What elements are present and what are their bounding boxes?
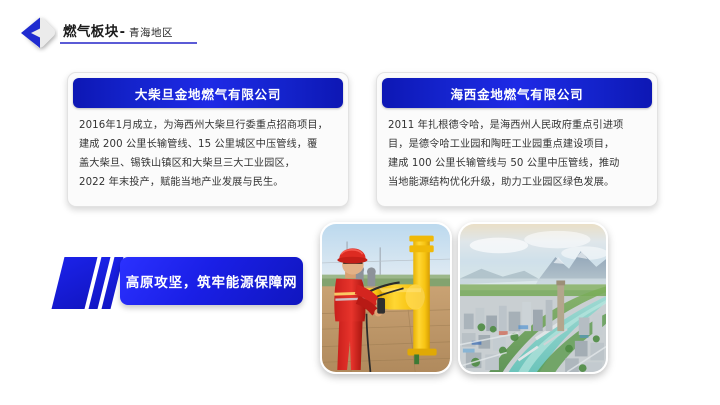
photo-worker-pipeline xyxy=(320,222,452,374)
diamond-chevron-logo-icon xyxy=(16,13,58,53)
info-card-line: 当地能源结构优化升级，助力工业园区绿色发展。 xyxy=(388,173,646,192)
info-card-line: 2016年1月成立，为海西州大柴旦行委重点招商项目， xyxy=(79,116,337,135)
info-card-line: 2022 年末投产，赋能当地产业发展与民生。 xyxy=(79,173,337,192)
info-card-body: 2016年1月成立，为海西州大柴旦行委重点招商项目， 建成 200 公里长输管线… xyxy=(73,108,343,192)
slogan-text: 高原攻坚，筑牢能源保障网 xyxy=(126,271,298,291)
info-card-line: 盖大柴旦、锡铁山镇区和大柴旦三大工业园区， xyxy=(79,154,337,173)
slogan-ribbon: 高原攻坚，筑牢能源保障网 xyxy=(58,257,303,309)
page-title-underline xyxy=(60,42,197,44)
info-card-line: 建成 100 公里长输管线与 50 公里中压管线，推动 xyxy=(388,154,646,173)
info-card-heading-text: 大柴旦金地燃气有限公司 xyxy=(135,84,281,103)
page-title-separator: - xyxy=(120,25,125,40)
info-card-line: 2011 年扎根德令哈，是海西州人民政府重点引进项 xyxy=(388,116,646,135)
info-card-line: 目，是德令哈工业园和陶旺工业园重点建设项目， xyxy=(388,135,646,154)
page-title-main: 燃气板块 xyxy=(63,20,119,40)
info-card-line: 建成 200 公里长输管线、15 公里城区中压管线，覆 xyxy=(79,135,337,154)
page-title: 燃气板块 - 青海地区 xyxy=(63,20,173,44)
info-card-daqaidam: 大柴旦金地燃气有限公司 2016年1月成立，为海西州大柴旦行委重点招商项目， 建… xyxy=(67,72,349,207)
info-card-heading-bar: 大柴旦金地燃气有限公司 xyxy=(73,78,343,108)
info-card-body: 2011 年扎根德令哈，是海西州人民政府重点引进项 目，是德令哈工业园和陶旺工业… xyxy=(382,108,652,192)
info-card-heading-text: 海西金地燃气有限公司 xyxy=(450,84,583,103)
page-title-sub: 青海地区 xyxy=(126,25,173,40)
photo-city-aerial xyxy=(458,222,608,374)
page-header: 燃气板块 - 青海地区 xyxy=(0,0,720,60)
info-card-haixi: 海西金地燃气有限公司 2011 年扎根德令哈，是海西州人民政府重点引进项 目，是… xyxy=(376,72,658,207)
ribbon-bar: 高原攻坚，筑牢能源保障网 xyxy=(120,257,303,305)
info-card-heading-bar: 海西金地燃气有限公司 xyxy=(382,78,652,108)
